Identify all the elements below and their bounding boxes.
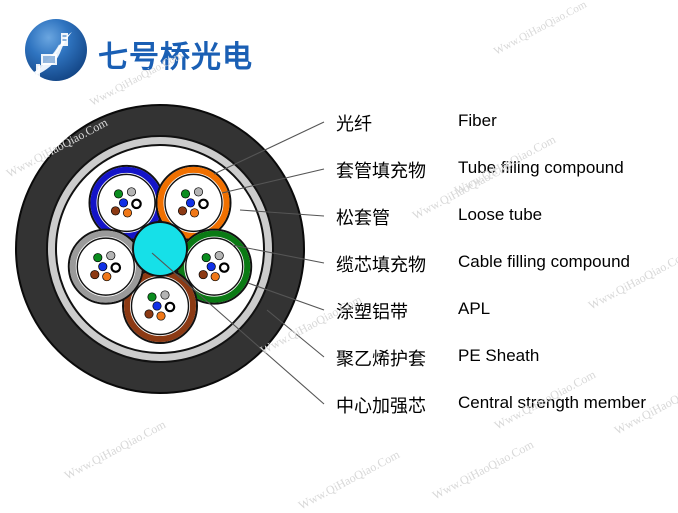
leader-line-loose-tube xyxy=(240,210,324,216)
callout-label-cn: 涂塑铝带 xyxy=(336,298,408,324)
callout-label-cn: 缆芯填充物 xyxy=(336,251,426,277)
callout-label-en: Loose tube xyxy=(458,205,542,225)
callout-label-en: Fiber xyxy=(458,111,497,131)
leader-line-apl xyxy=(248,283,324,310)
leader-line-central-strength xyxy=(152,253,324,404)
callout-label-en: PE Sheath xyxy=(458,346,539,366)
callout-label-en: APL xyxy=(458,299,490,319)
diagram-page: 七号桥光电 光纤 Fiber 套管填充物 Tube filling compou… xyxy=(0,0,678,505)
leader-line-fiber xyxy=(214,122,324,174)
leader-line-cable-filling xyxy=(232,245,324,263)
callout-label-cn: 聚乙烯护套 xyxy=(336,345,426,371)
callout-label-cn: 套管填充物 xyxy=(336,157,426,183)
callout-label-en: Cable filling compound xyxy=(458,252,630,272)
callout-label-cn: 光纤 xyxy=(336,110,372,136)
callout-label-en: Tube filling compound xyxy=(458,158,624,178)
callout-label-en: Central strength member xyxy=(458,393,646,413)
leader-line-pe-sheath xyxy=(267,310,324,357)
leader-line-tube-filling xyxy=(222,169,324,193)
callout-label-cn: 松套管 xyxy=(336,204,390,230)
callout-label-cn: 中心加强芯 xyxy=(336,392,426,418)
